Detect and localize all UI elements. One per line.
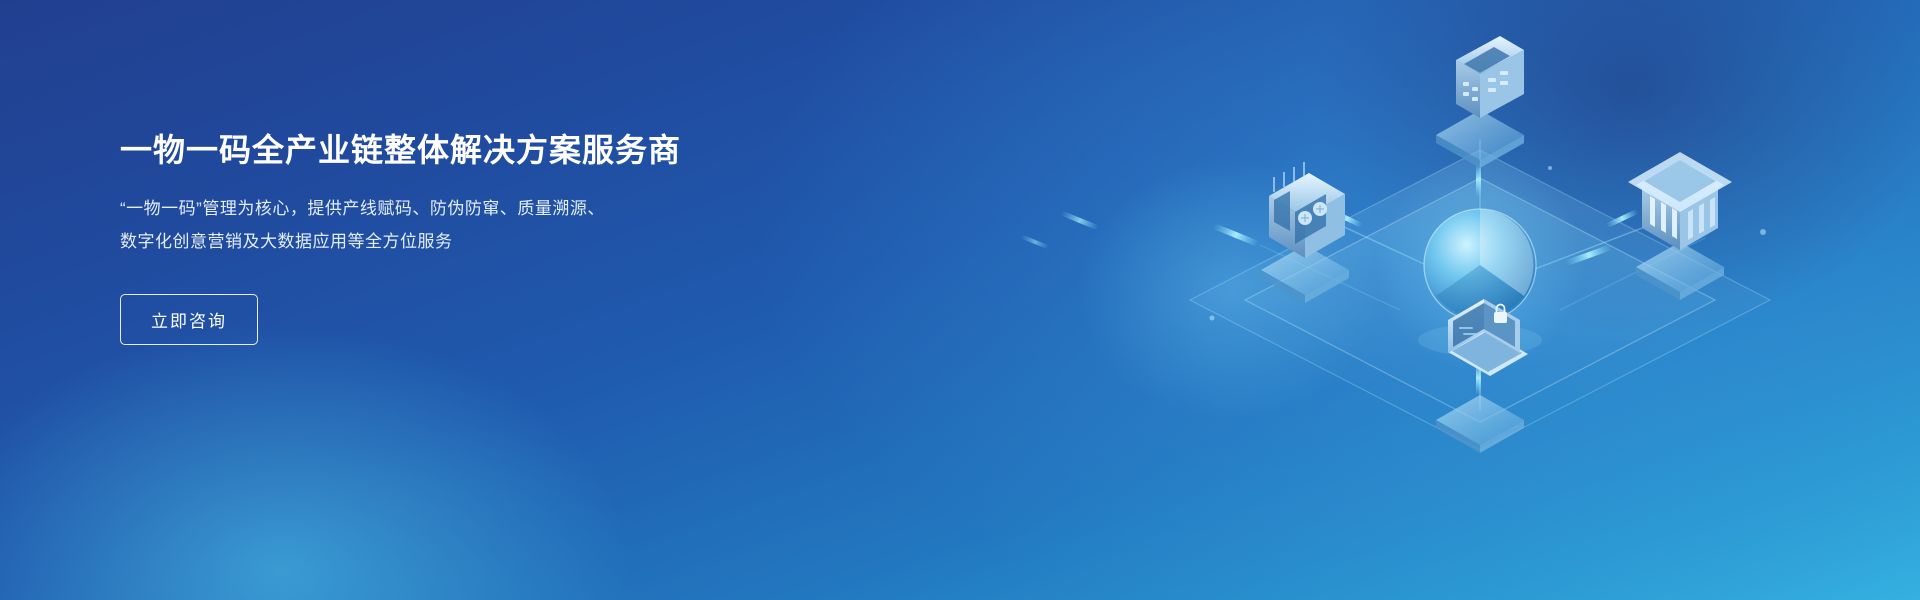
hero-subtitle-line-2: 数字化创意营销及大数据应用等全方位服务	[120, 225, 820, 258]
cta-container: 立即咨询	[120, 294, 820, 345]
server-rack-node	[1261, 162, 1349, 303]
pos-terminal-node	[1436, 36, 1524, 168]
hero-illustration	[860, 0, 1920, 600]
hero-subtitle-line-1: “一物一码”管理为核心，提供产线赋码、防伪防窜、质量溯源、	[120, 192, 820, 225]
consult-now-button[interactable]: 立即咨询	[120, 294, 258, 345]
hero-copy: 一物一码全产业链整体解决方案服务商 “一物一码”管理为核心，提供产线赋码、防伪防…	[120, 130, 820, 345]
bank-building-node	[1628, 152, 1732, 300]
hero-banner: 一物一码全产业链整体解决方案服务商 “一物一码”管理为核心，提供产线赋码、防伪防…	[0, 0, 1920, 600]
pos-terminal-icon	[1440, 36, 1524, 122]
page-title: 一物一码全产业链整体解决方案服务商	[120, 130, 820, 170]
